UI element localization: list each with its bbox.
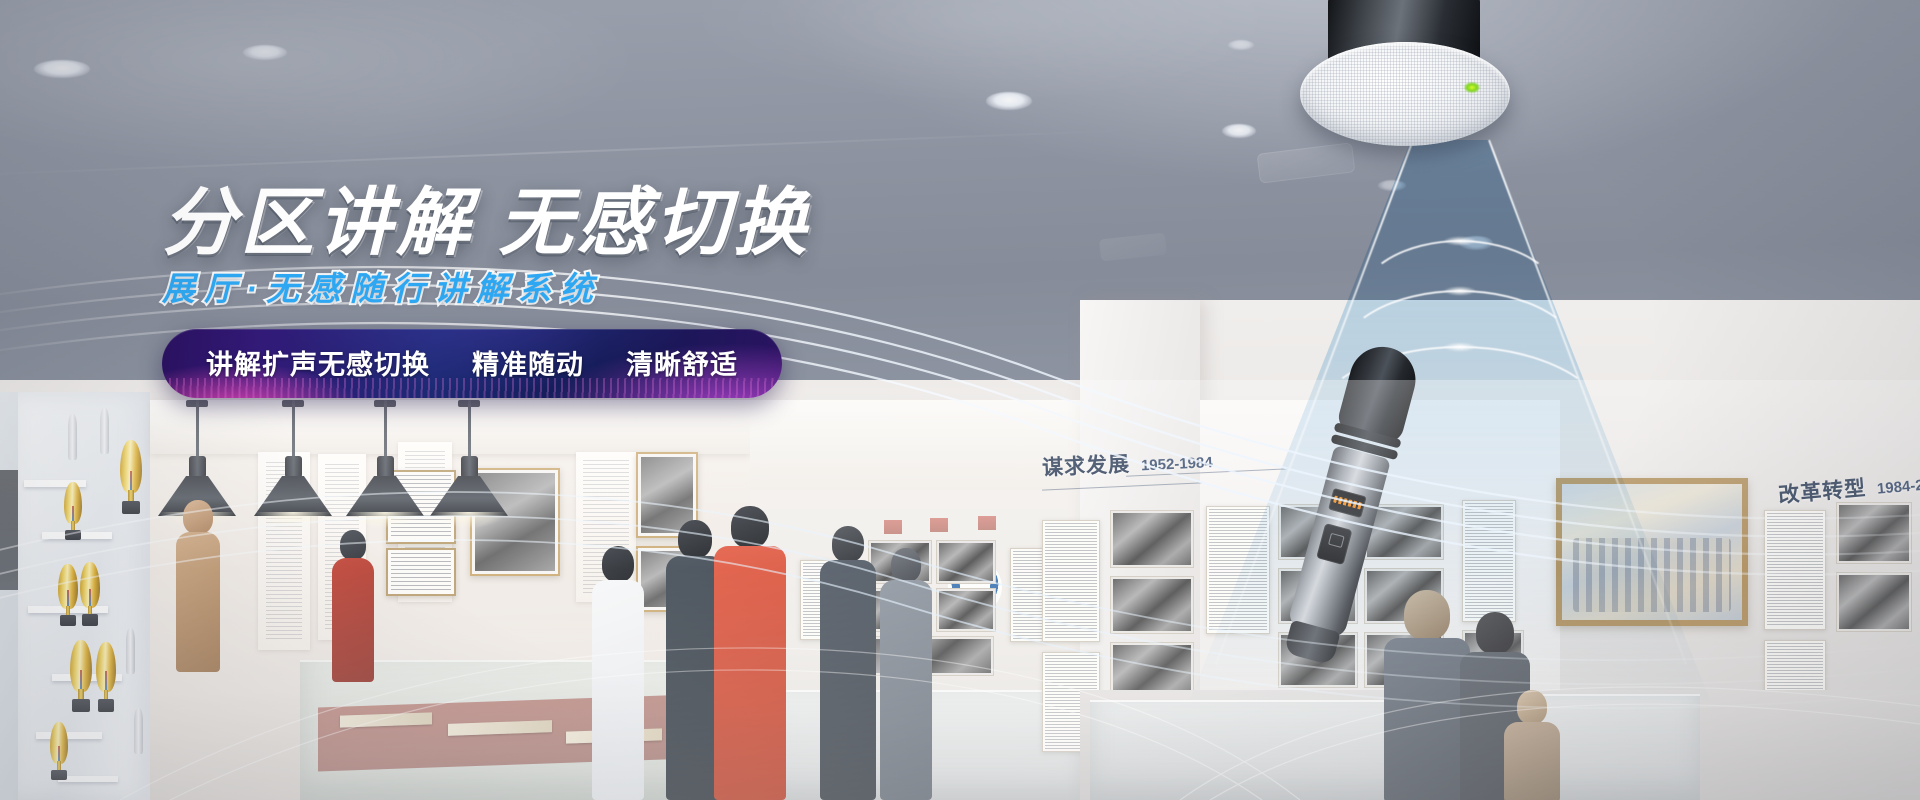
trophy-icon [58, 564, 78, 626]
downlight-icon [986, 92, 1032, 110]
center-room-ceiling [750, 400, 1080, 490]
historic-photo [936, 588, 996, 632]
trophy-icon [70, 640, 92, 712]
feature-pill: 讲解扩声无感切换 精准随动 清晰舒适 [162, 329, 782, 398]
trophy-icon [120, 440, 142, 514]
downlight-icon [34, 60, 90, 78]
visitor [332, 530, 374, 680]
downlight-icon [1222, 124, 1256, 138]
banner-subheadline: 展厅·无感随行讲解系统 [162, 272, 1062, 305]
statuette-icon [100, 408, 109, 454]
visitor [880, 548, 932, 800]
historic-photo [1836, 572, 1912, 632]
visitor [1504, 690, 1560, 800]
downlight-icon [243, 45, 287, 60]
display-case-right [1090, 700, 1420, 800]
statuette-icon [134, 708, 143, 754]
pendant-lamp [340, 400, 430, 530]
label-tag [930, 518, 948, 532]
wall-heading-1-title: 谋求发展 [1042, 453, 1131, 480]
pendant-lamp [248, 400, 338, 530]
wall-heading-2-years: 1984-2010 [1876, 475, 1920, 498]
historic-photo [1110, 510, 1194, 568]
feature-item-3: 清晰舒适 [626, 343, 738, 382]
terracotta-figure [176, 500, 220, 670]
historic-photo [1836, 502, 1912, 564]
feature-item-1: 讲解扩声无感切换 [206, 343, 430, 382]
visitor-orange-jacket [714, 506, 786, 800]
historic-photo [936, 540, 996, 584]
exhibit-text-board [1010, 548, 1046, 642]
trophy-icon [50, 722, 68, 780]
ceiling-speaker [1300, 0, 1510, 154]
pendant-lamp [424, 400, 514, 530]
label-tag [978, 516, 996, 530]
trophy-shelf-wall [18, 392, 150, 800]
trophy-icon [80, 562, 100, 626]
banner-headline: 分区讲解 无感切换 [162, 186, 1062, 260]
trophy-icon [96, 642, 116, 712]
speaker-rim [1300, 42, 1510, 146]
statuette-icon [126, 628, 135, 674]
shelf [36, 732, 102, 739]
label-tag [884, 520, 902, 534]
visitor [820, 526, 876, 800]
downlight-icon [1228, 40, 1254, 50]
banner-stage: 谋求发展 1952-1984 改革转型 1984-2010 [0, 0, 1920, 800]
trophy-icon [64, 482, 82, 540]
feature-item-2: 精准随动 [472, 343, 584, 382]
exhibit-text-board [1042, 520, 1100, 642]
framed-calligraphy [386, 548, 456, 596]
speaker-status-led [1464, 82, 1480, 93]
statuette-icon [68, 414, 77, 460]
visitor [592, 546, 644, 800]
historic-photo [1110, 576, 1194, 634]
copy-block: 分区讲解 无感切换 展厅·无感随行讲解系统 讲解扩声无感切换 精准随动 清晰舒适 [162, 186, 1062, 398]
exhibit-text-board [1764, 510, 1826, 630]
